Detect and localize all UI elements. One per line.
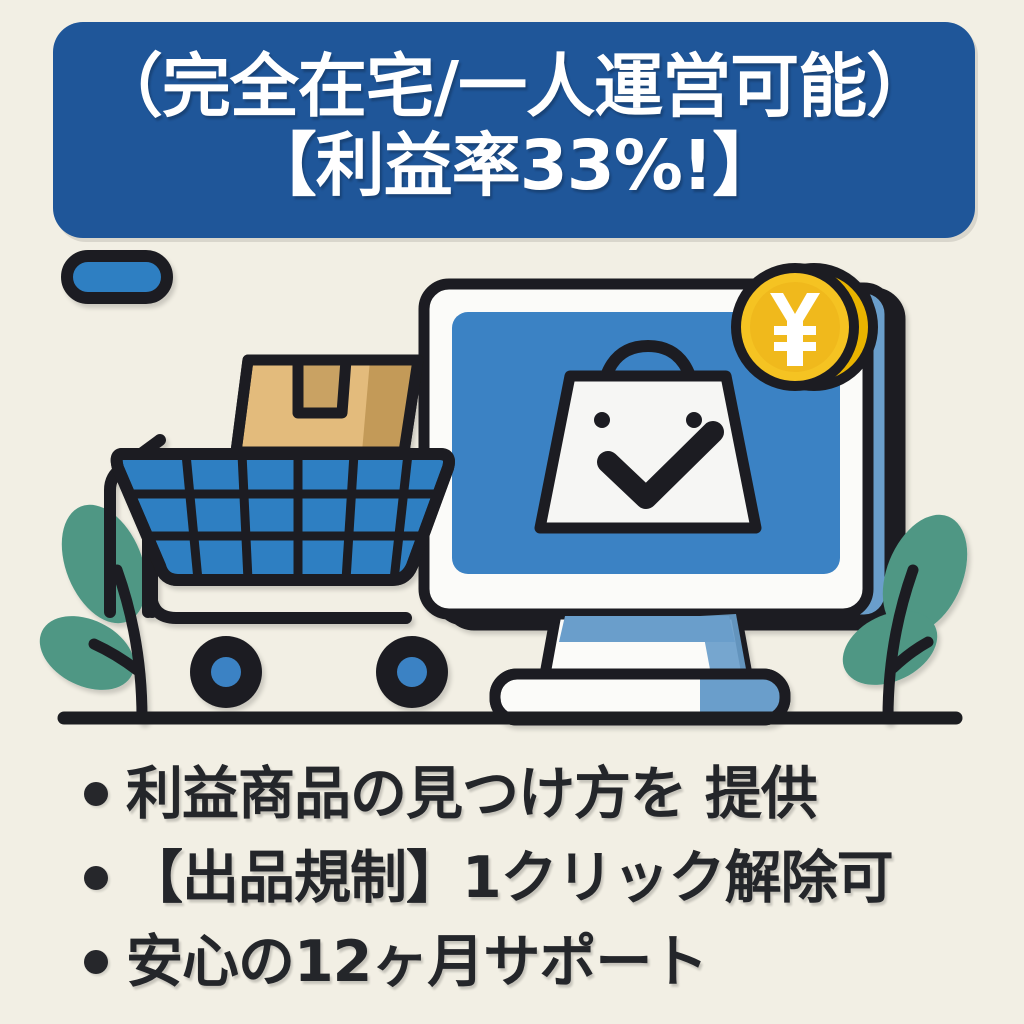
shopping-cart	[67, 256, 449, 708]
yen-coin-icon	[736, 268, 873, 386]
bullet-text: 安心の12ヶ月サポート	[126, 934, 707, 991]
header-line-1: （完全在宅/一人運営可能）	[94, 51, 934, 124]
shopping-bag-with-check-icon	[540, 346, 756, 528]
header-line-2: 【利益率33%!】	[248, 130, 781, 203]
promo-poster: （完全在宅/一人運営可能） 【利益率33%!】	[0, 0, 1024, 1024]
bullet-dot-icon	[84, 782, 108, 806]
header-banner: （完全在宅/一人運営可能） 【利益率33%!】	[53, 22, 975, 238]
bullet-text: 【出品規制】1クリック解除可	[126, 850, 893, 907]
bullet-text: 利益商品の見つけ方を 提供	[126, 766, 817, 823]
bullet-dot-icon	[84, 866, 108, 890]
list-item: 安心の12ヶ月サポート	[0, 920, 1024, 1004]
hero-illustration	[0, 240, 1024, 740]
list-item: 利益商品の見つけ方を 提供	[0, 752, 1024, 836]
cardboard-box	[236, 360, 418, 452]
list-item: 【出品規制】1クリック解除可	[0, 836, 1024, 920]
feature-bullet-list: 利益商品の見つけ方を 提供 【出品規制】1クリック解除可 安心の12ヶ月サポート	[0, 752, 1024, 1004]
bullet-dot-icon	[84, 950, 108, 974]
